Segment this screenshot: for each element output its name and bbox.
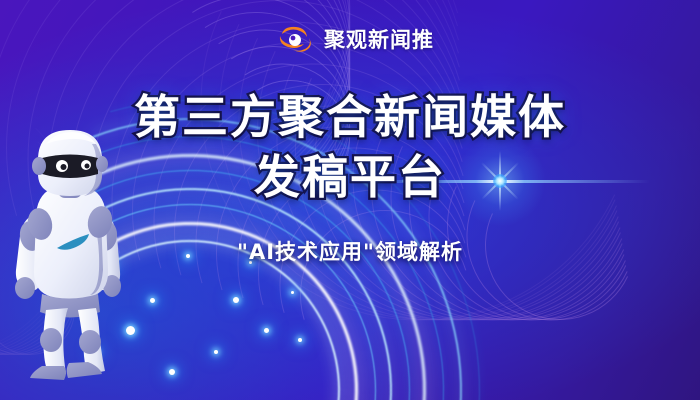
- page-title: 第三方聚合新闻媒体 发稿平台: [0, 88, 700, 206]
- subtitle-text: "AI技术应用"领域解析: [237, 240, 463, 264]
- eye-lens-icon: [276, 25, 316, 55]
- promo-banner: 聚观新闻推 第三方聚合新闻媒体 发稿平台 "AI技术应用"领域解析: [0, 0, 700, 400]
- logo-lockup[interactable]: 聚观新闻推: [276, 25, 434, 55]
- headline-line-2: 发稿平台: [0, 148, 700, 206]
- subtitle: "AI技术应用"领域解析: [0, 236, 700, 266]
- headline-line-1: 第三方聚合新闻媒体: [0, 88, 700, 146]
- brand-name: 聚观新闻推: [324, 25, 434, 55]
